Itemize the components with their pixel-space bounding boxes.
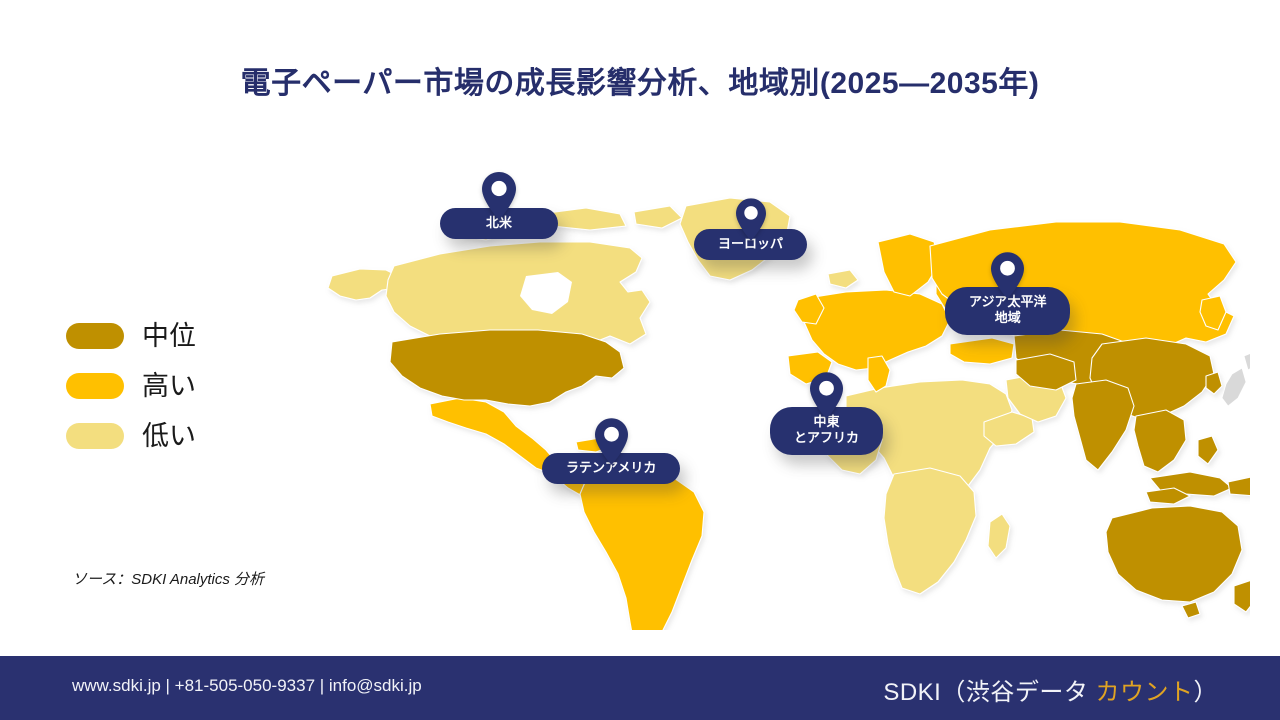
source-note: ソース：SDKI Analytics 分析 <box>72 568 264 589</box>
footer-brand-accent: カウント <box>1096 679 1194 706</box>
footer-brand-prefix: SDKI（渋谷データ <box>883 679 1095 706</box>
slide-canvas: 電子ペーパー市場の成長影響分析、地域別(2025—2035年) 中位 高い 低い… <box>0 0 1280 720</box>
map-pin-icon <box>810 372 843 419</box>
region-tasmania <box>1182 602 1200 618</box>
region-southeast-asia <box>1134 410 1186 472</box>
map-pin-icon <box>482 172 516 220</box>
map-marker-asia-pacific[interactable]: アジア太平洋 地域 <box>945 252 1070 335</box>
map-marker-europe[interactable]: ヨーロッパ <box>694 198 807 260</box>
region-iceland <box>828 270 858 288</box>
legend-item-label: 低い <box>142 423 196 450</box>
region-mexico <box>430 398 558 474</box>
legend-item-low: 低い <box>66 412 296 460</box>
rounded-swatch-icon <box>66 373 124 399</box>
legend-item-high: 高い <box>66 362 296 410</box>
map-pin-icon <box>736 198 766 241</box>
region-turkey <box>950 338 1014 364</box>
region-southern-africa <box>884 468 976 594</box>
map-marker-latin-america[interactable]: ラテンアメリカ <box>542 418 680 484</box>
map-marker-middle-east-africa[interactable]: 中東 とアフリカ <box>770 372 883 455</box>
legend: 中位 高い 低い <box>66 312 296 462</box>
legend-item-label: 中位 <box>142 323 196 350</box>
region-korea <box>1206 372 1222 394</box>
rounded-swatch-icon <box>66 423 124 449</box>
footer-brand: SDKI（渋谷データ カウント） <box>883 672 1218 707</box>
map-marker-north-america[interactable]: 北米 <box>440 172 558 239</box>
footer-brand-suffix: ） <box>1194 679 1219 706</box>
region-australia <box>1106 506 1242 602</box>
region-japan <box>1244 352 1250 370</box>
footer-contact[interactable]: www.sdki.jp | +81-505-050-9337 | info@sd… <box>72 676 422 696</box>
region-madagascar <box>988 514 1010 558</box>
region-new-zealand <box>1234 580 1250 612</box>
world-map-container: 北米 ヨーロッパ アジア太平洋 地域 <box>290 130 1250 630</box>
region-arctic-islands <box>634 206 682 228</box>
legend-item-medium: 中位 <box>66 312 296 360</box>
legend-item-label: 高い <box>142 373 196 400</box>
rounded-swatch-icon <box>66 323 124 349</box>
region-japan <box>1222 368 1246 406</box>
region-india <box>1072 380 1134 470</box>
region-united-states <box>390 330 624 406</box>
map-pin-icon <box>991 252 1024 299</box>
page-title: 電子ペーパー市場の成長影響分析、地域別(2025—2035年) <box>0 58 1280 102</box>
region-south-america <box>580 472 704 630</box>
region-new-guinea <box>1228 476 1250 496</box>
region-philippines <box>1198 436 1218 464</box>
map-pin-icon <box>595 418 628 465</box>
